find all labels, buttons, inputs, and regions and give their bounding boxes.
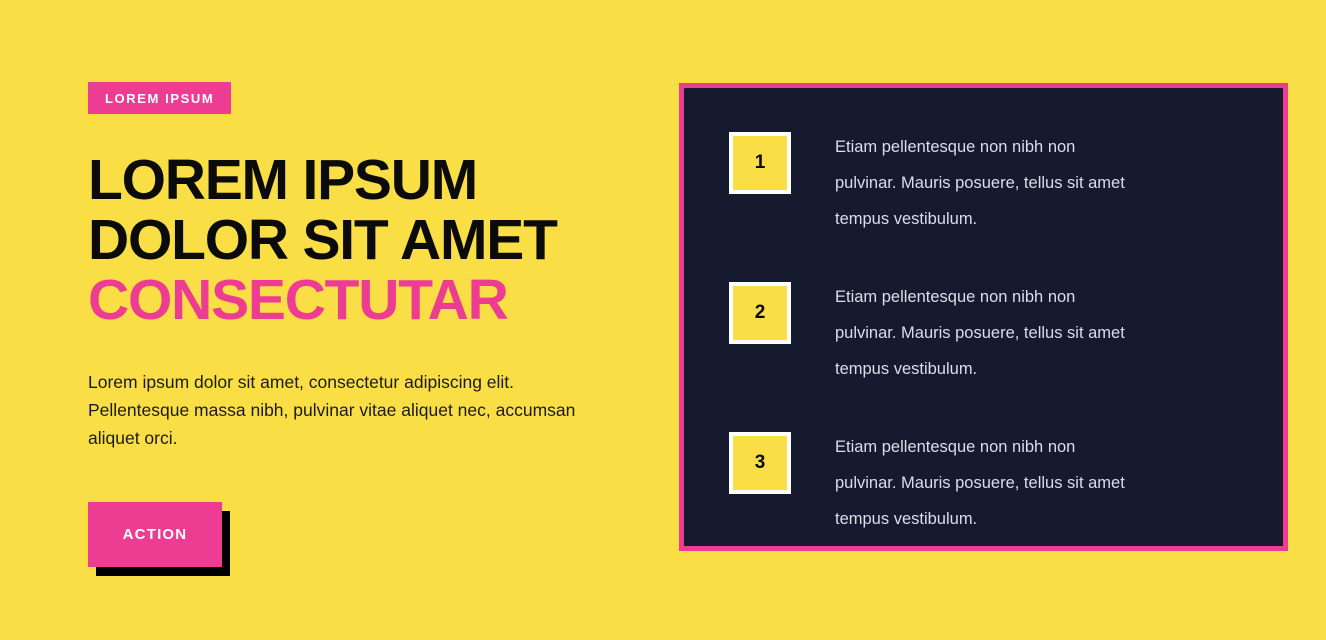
action-button[interactable]: ACTION bbox=[88, 502, 222, 567]
number-badge: 2 bbox=[729, 282, 791, 344]
feature-list: 1 Etiam pellentesque non nibh non pulvin… bbox=[684, 88, 1283, 546]
list-item-text: Etiam pellentesque non nibh non pulvinar… bbox=[835, 129, 1125, 237]
feature-list-card: 1 Etiam pellentesque non nibh non pulvin… bbox=[679, 83, 1288, 551]
left-content-column: LOREM IPSUM LOREM IPSUM DOLOR SIT AMET C… bbox=[88, 82, 618, 574]
list-item: 2 Etiam pellentesque non nibh non pulvin… bbox=[729, 279, 1239, 387]
slide-root: LOREM IPSUM LOREM IPSUM DOLOR SIT AMET C… bbox=[0, 0, 1326, 640]
body-paragraph: Lorem ipsum dolor sit amet, consectetur … bbox=[88, 368, 598, 452]
list-item-text: Etiam pellentesque non nibh non pulvinar… bbox=[835, 279, 1125, 387]
number-badge: 3 bbox=[729, 432, 791, 494]
list-item: 1 Etiam pellentesque non nibh non pulvin… bbox=[729, 129, 1239, 237]
cta-button-wrapper: ACTION bbox=[88, 502, 232, 574]
list-item-text: Etiam pellentesque non nibh non pulvinar… bbox=[835, 429, 1125, 537]
number-badge: 1 bbox=[729, 132, 791, 194]
headline-line-2: DOLOR SIT AMET bbox=[88, 210, 618, 270]
eyebrow-badge: LOREM IPSUM bbox=[88, 82, 231, 114]
page-title: LOREM IPSUM DOLOR SIT AMET CONSECTUTAR bbox=[88, 150, 618, 330]
headline-line-3-accent: CONSECTUTAR bbox=[88, 270, 618, 330]
list-item: 3 Etiam pellentesque non nibh non pulvin… bbox=[729, 429, 1239, 537]
headline-line-1: LOREM IPSUM bbox=[88, 150, 618, 210]
